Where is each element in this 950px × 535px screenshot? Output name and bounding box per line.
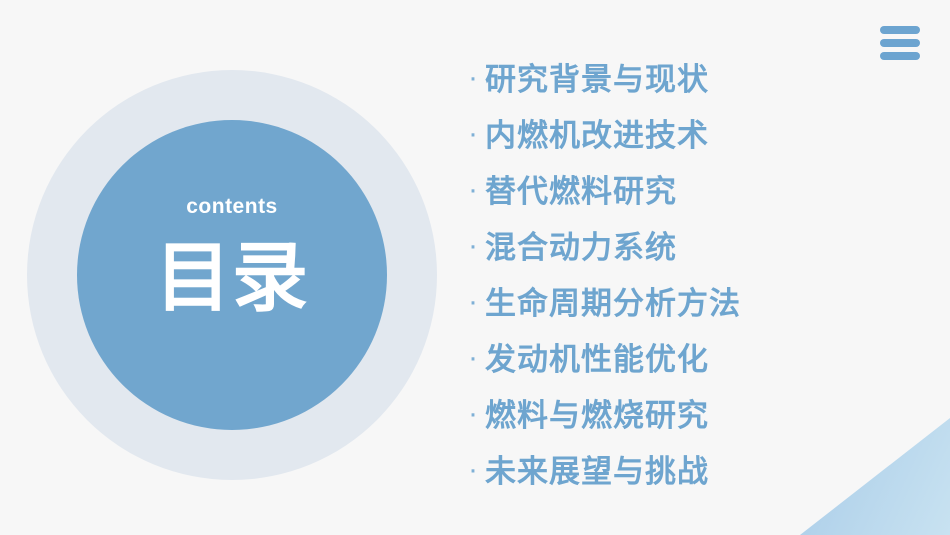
list-item[interactable]: · 发动机性能优化 [468,332,898,388]
list-item[interactable]: · 混合动力系统 [468,220,898,276]
contents-circle-group: contents 目录 [27,70,437,480]
list-item[interactable]: · 生命周期分析方法 [468,276,898,332]
list-item-label: 未来展望与挑战 [485,454,709,490]
list-item[interactable]: · 内燃机改进技术 [468,108,898,164]
list-item-label: 研究背景与现状 [485,62,709,98]
bullet-icon: · [468,119,485,149]
list-item-label: 生命周期分析方法 [485,286,741,322]
list-item-label: 内燃机改进技术 [485,118,709,154]
bullet-icon: · [468,175,485,205]
list-item-label: 燃料与燃烧研究 [485,398,709,434]
list-item-label: 混合动力系统 [485,230,677,266]
hamburger-bar-2 [880,39,920,47]
bullet-icon: · [468,399,485,429]
bullet-icon: · [468,63,485,93]
bullet-icon: · [468,287,485,317]
list-item[interactable]: · 未来展望与挑战 [468,444,898,500]
contents-eyebrow-label: contents [186,196,278,217]
page-title: 目录 [155,239,309,319]
hamburger-bar-1 [880,26,920,34]
bullet-icon: · [468,231,485,261]
list-item[interactable]: · 燃料与燃烧研究 [468,388,898,444]
list-item-label: 发动机性能优化 [485,342,709,378]
agenda-list: · 研究背景与现状 · 内燃机改进技术 · 替代燃料研究 · 混合动力系统 · … [468,52,898,500]
bullet-icon: · [468,455,485,485]
inner-accent-circle: contents 目录 [77,120,387,430]
bullet-icon: · [468,343,485,373]
slide-canvas: contents 目录 · 研究背景与现状 · 内燃机改进技术 · 替代燃料研究… [0,0,950,535]
list-item[interactable]: · 替代燃料研究 [468,164,898,220]
list-item[interactable]: · 研究背景与现状 [468,52,898,108]
list-item-label: 替代燃料研究 [485,174,677,210]
